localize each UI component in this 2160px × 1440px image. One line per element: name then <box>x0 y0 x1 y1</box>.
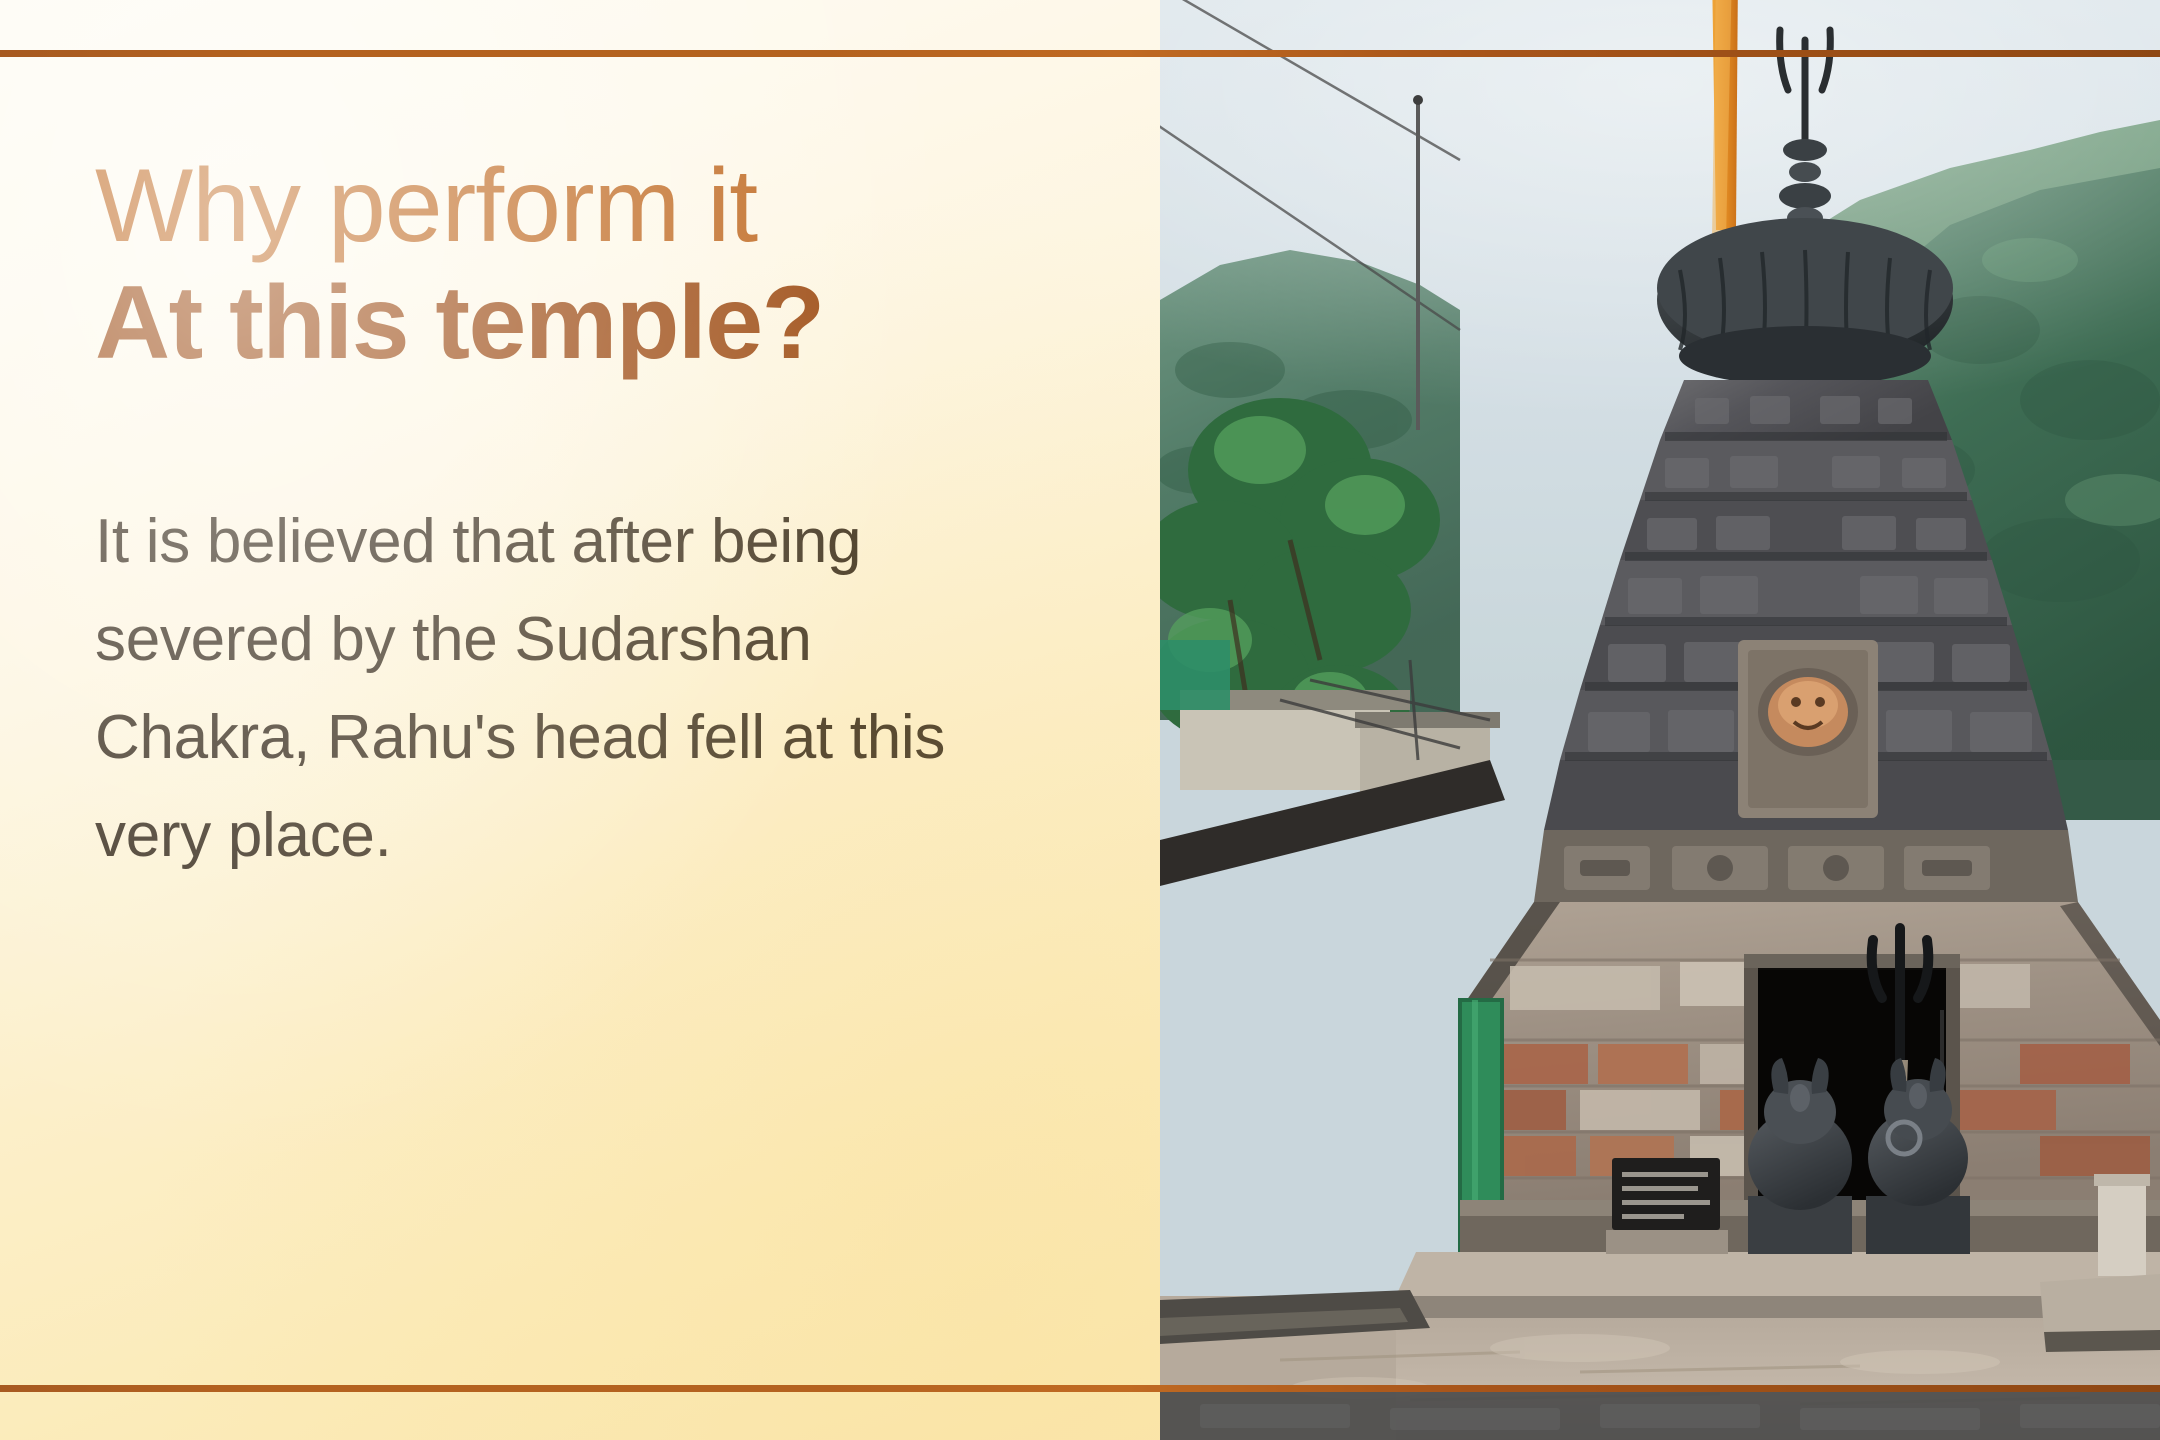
temple-illustration <box>1160 0 2160 1440</box>
top-divider-rule <box>0 50 2160 57</box>
body-paragraph: It is believed that after being severed … <box>95 493 1030 885</box>
text-block: Why perform it At this temple? It is bel… <box>95 150 1075 885</box>
bottom-divider-rule <box>0 1385 2160 1392</box>
slide-root: Why perform it At this temple? It is bel… <box>0 0 2160 1440</box>
temple-photograph <box>1160 0 2160 1440</box>
heading-line-1: Why perform it <box>95 150 1075 262</box>
heading-line-2: At this temple? <box>95 264 1075 383</box>
left-content-panel: Why perform it At this temple? It is bel… <box>0 0 1160 1440</box>
